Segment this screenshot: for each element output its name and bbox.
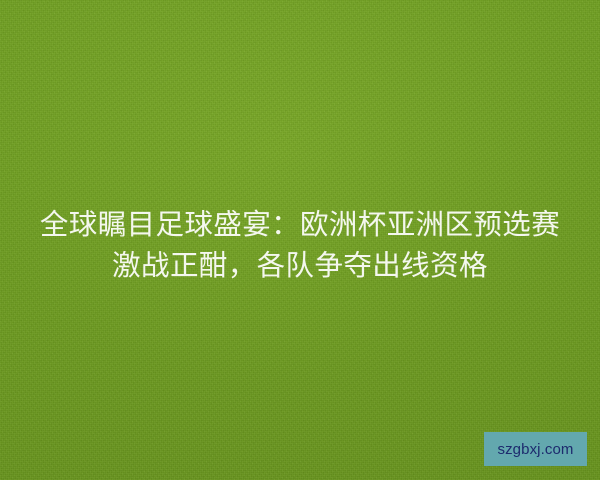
watermark-site-label: szgbxj.com (497, 441, 573, 458)
watermark-badge: szgbxj.com (484, 432, 587, 466)
headline-text: 全球瞩目足球盛宴：欧洲杯亚洲区预选赛 激战正酣，各队争夺出线资格 (0, 204, 600, 286)
banner-image: 全球瞩目足球盛宴：欧洲杯亚洲区预选赛 激战正酣，各队争夺出线资格 szgbxj.… (0, 0, 600, 480)
headline-line-1: 全球瞩目足球盛宴：欧洲杯亚洲区预选赛 (0, 204, 600, 245)
headline-line-2: 激战正酣，各队争夺出线资格 (0, 245, 600, 286)
